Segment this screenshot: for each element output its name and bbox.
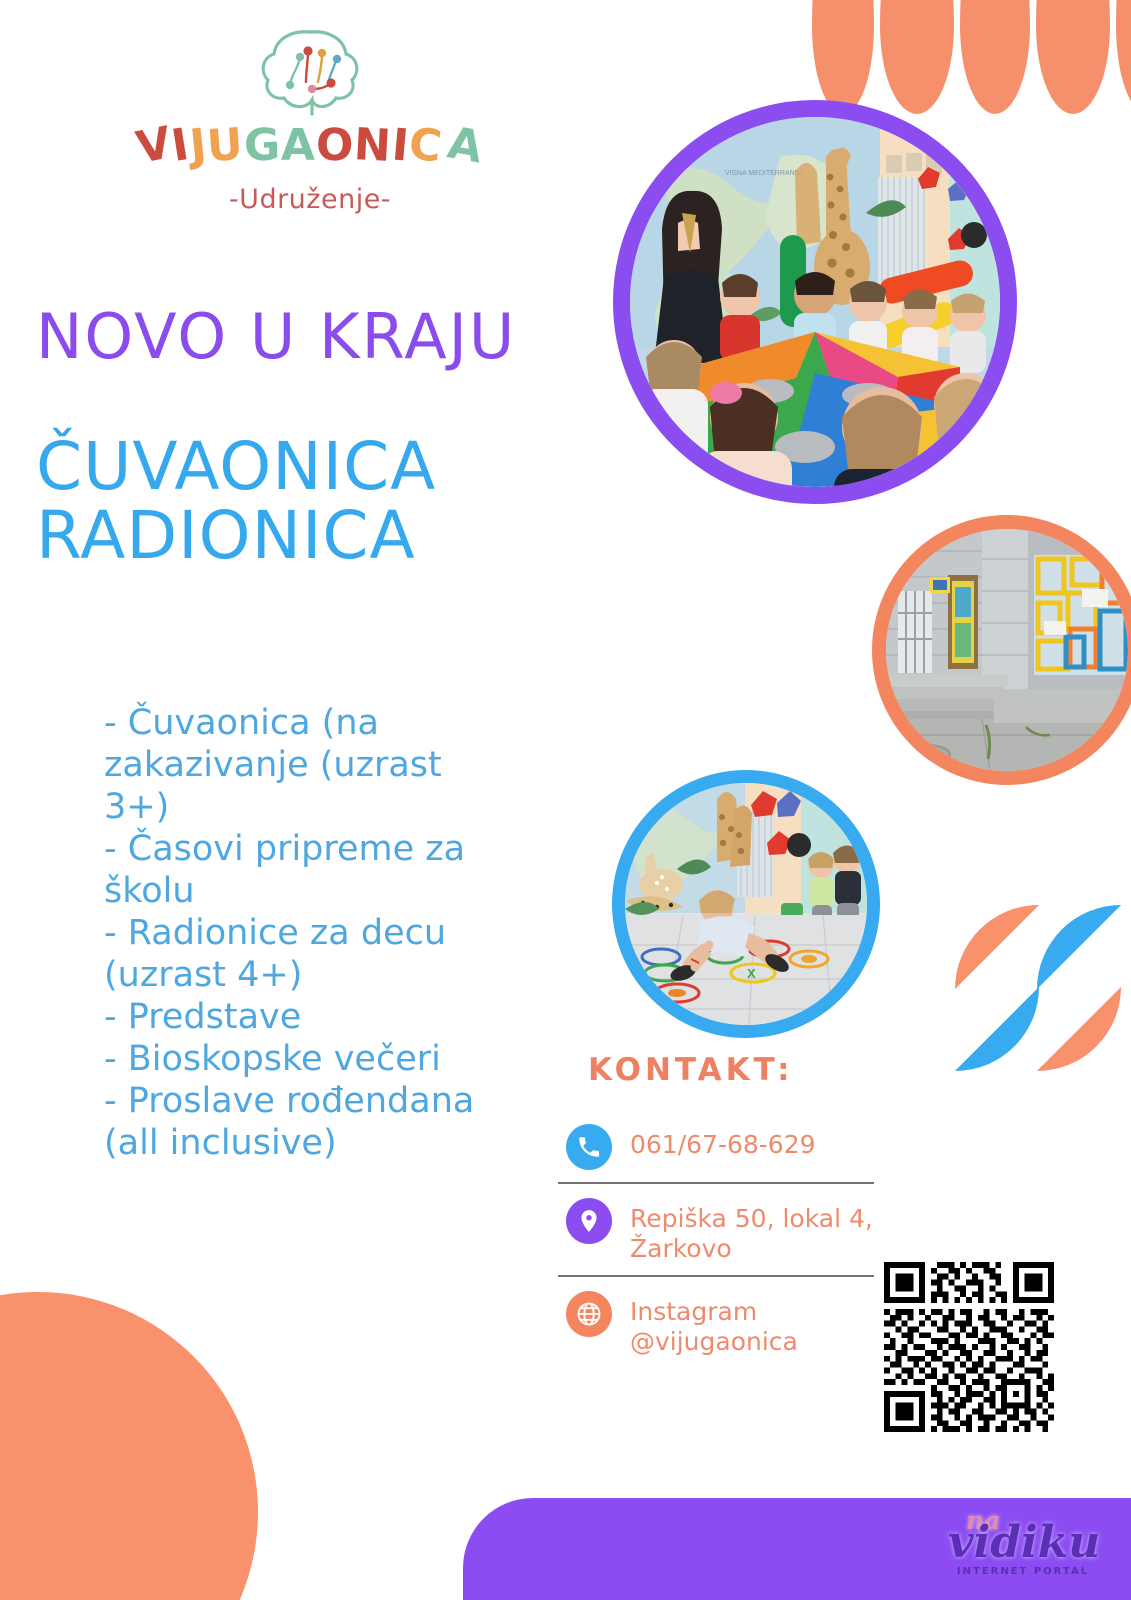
- contact-row-address[interactable]: Repiška 50, lokal 4, Žarkovo: [558, 1184, 888, 1275]
- watermark-line3: INTERNET PORTAL: [948, 1567, 1098, 1577]
- quarter-arc-icon: [1037, 905, 1121, 989]
- page-title-line2: RADIONICA: [36, 501, 436, 570]
- quarter-arc-icon: [955, 987, 1039, 1071]
- contact-row-phone[interactable]: 061/67-68-629: [558, 1110, 888, 1182]
- contact-divider: [558, 1275, 874, 1277]
- contact-divider: [558, 1182, 874, 1184]
- watermark-line2: vidiku: [948, 1521, 1098, 1565]
- contact-list: 061/67-68-629 Repiška 50, lokal 4, Žarko…: [558, 1110, 888, 1368]
- phone-icon: [566, 1124, 612, 1170]
- brain-icon: [250, 26, 370, 118]
- quarter-arc-icon: [1037, 987, 1121, 1071]
- photo-child-playing-art: X: [625, 783, 867, 1025]
- services-list: - Čuvaonica (na zakazivanje (uzrast 3+) …: [104, 702, 534, 1164]
- contact-address-value: Repiška 50, lokal 4, Žarkovo: [630, 1198, 873, 1263]
- petal-shape: [880, 0, 954, 114]
- location-pin-icon: [566, 1198, 612, 1244]
- svg-text:X: X: [747, 966, 756, 981]
- contact-social-value: Instagram @vijugaonica: [630, 1291, 798, 1356]
- contact-row-social[interactable]: Instagram @vijugaonica: [558, 1277, 888, 1368]
- photo-child-playing: X: [612, 770, 880, 1038]
- page-title: ČUVAONICA RADIONICA: [36, 432, 436, 571]
- photo-building-entrance: [872, 515, 1131, 785]
- orange-circle-decoration: [0, 1292, 258, 1600]
- petal-shape: [1036, 0, 1110, 114]
- svg-text:VIGNA MEDITERRANEA: VIGNA MEDITERRANEA: [725, 170, 804, 177]
- brand-logo-block: VIJUGAONICA -Udruženje-: [0, 26, 620, 215]
- petal-shape: [1116, 0, 1131, 114]
- poster-canvas: VIJUGAONICA -Udruženje- NOVO U KRAJU ČUV…: [0, 0, 1131, 1600]
- page-title-line1: ČUVAONICA: [36, 432, 436, 501]
- brand-subtitle: -Udruženje-: [0, 184, 620, 215]
- petal-shape: [812, 0, 874, 114]
- portal-watermark: na vidiku INTERNET PORTAL: [948, 1508, 1098, 1577]
- services-list-text: - Čuvaonica (na zakazivanje (uzrast 3+) …: [104, 702, 534, 1164]
- petal-shape: [960, 0, 1030, 114]
- contact-section-title: KONTAKT:: [588, 1052, 794, 1088]
- arc-decoration-group: [955, 905, 1131, 1095]
- photo-children-parachute-art: VIGNA MEDITERRANEA: [630, 117, 1000, 487]
- quarter-arc-icon: [955, 905, 1039, 989]
- eyebrow-heading: NOVO U KRAJU: [36, 300, 516, 373]
- qr-code[interactable]: [884, 1262, 1054, 1432]
- contact-phone-value: 061/67-68-629: [630, 1124, 816, 1160]
- globe-icon: [566, 1291, 612, 1337]
- petal-decoration-group: [812, 0, 1131, 114]
- photo-building-entrance-art: [886, 529, 1128, 771]
- photo-children-parachute: VIGNA MEDITERRANEA: [613, 100, 1017, 504]
- qr-code-art: [884, 1262, 1054, 1432]
- brand-wordmark: VIJUGAONICA: [0, 124, 620, 168]
